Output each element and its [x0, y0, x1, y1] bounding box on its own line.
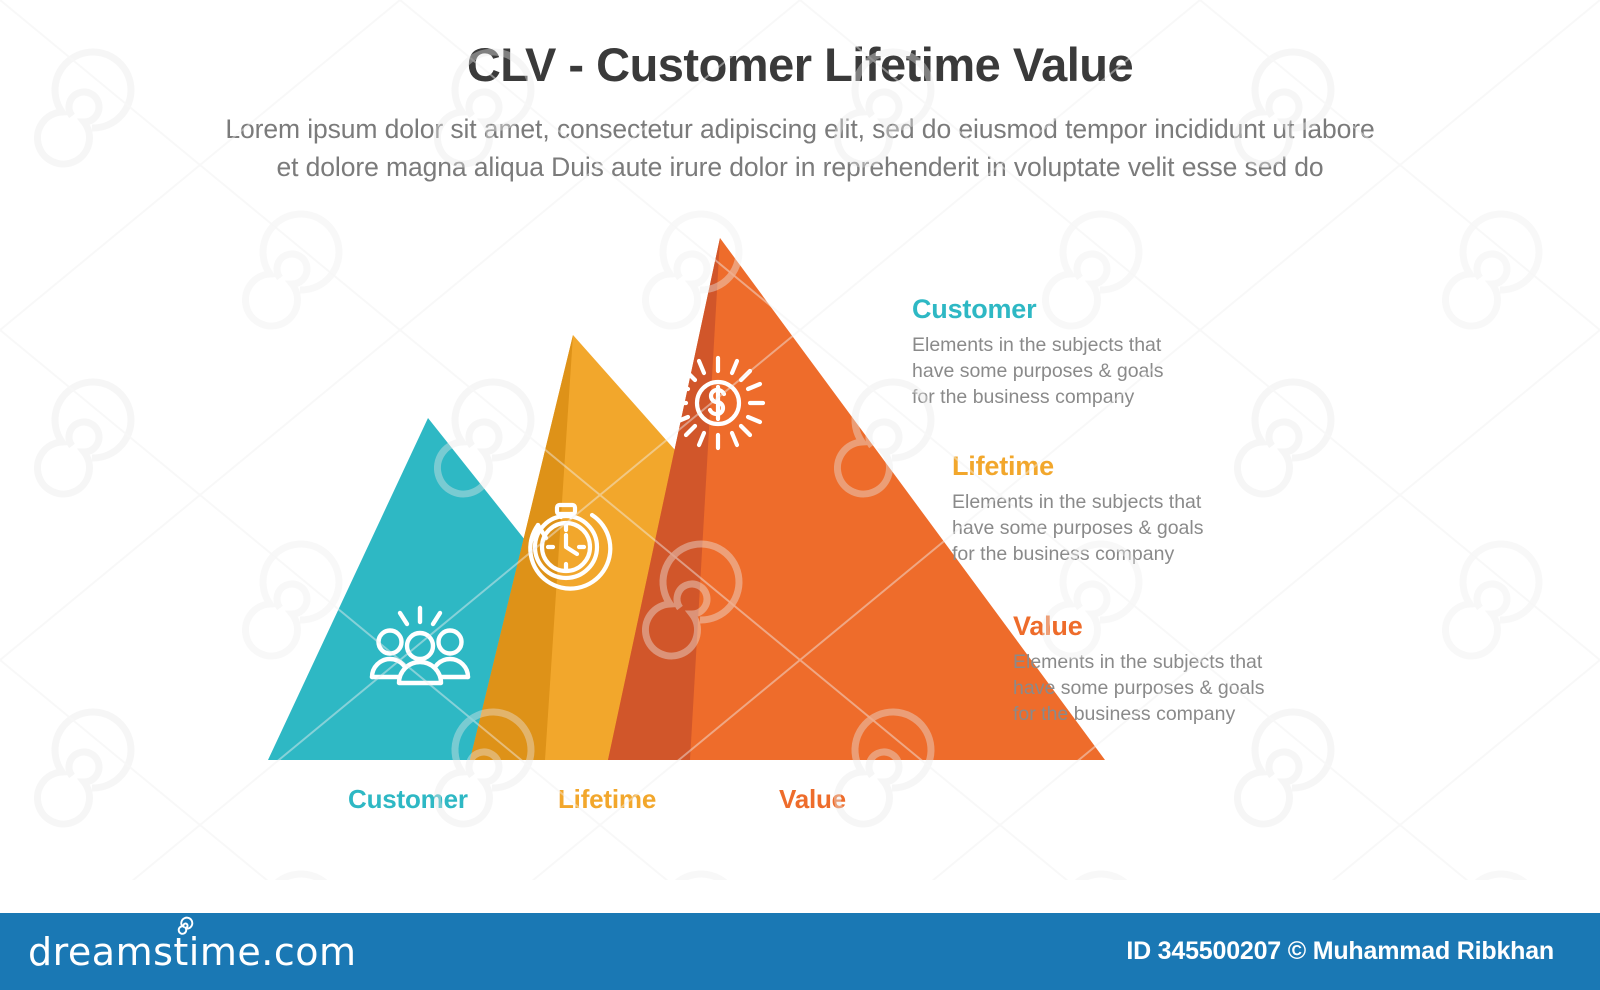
legend-title-value: Value — [1013, 611, 1443, 642]
dreamstime-spiral-icon — [174, 914, 196, 936]
legend-desc-line-3: for the business company — [1013, 702, 1443, 728]
legend-list: Customer Elements in the subjects that h… — [0, 0, 1600, 880]
footer-bar: dreamstime.com ID 345500207 © Muhammad R… — [0, 913, 1600, 990]
legend-desc-line-2: have some purposes & goals — [1013, 676, 1443, 702]
legend-desc-customer: Elements in the subjects that have some … — [912, 333, 1342, 411]
legend-desc-line-2: have some purposes & goals — [952, 516, 1382, 542]
legend-title-customer: Customer — [912, 294, 1342, 325]
image-credit: ID 345500207 © Muhammad Ribkhan — [1126, 937, 1572, 966]
legend-desc-line-2: have some purposes & goals — [912, 359, 1342, 385]
legend-item-value[interactable]: Value Elements in the subjects that have… — [1013, 611, 1443, 728]
legend-item-lifetime[interactable]: Lifetime Elements in the subjects that h… — [952, 451, 1382, 568]
legend-desc-line-1: Elements in the subjects that — [1013, 650, 1443, 676]
infographic-page: CLV - Customer Lifetime Value Lorem ipsu… — [0, 0, 1600, 990]
dreamstime-logo-text: dreamstime.com — [28, 930, 356, 974]
legend-desc-line-1: Elements in the subjects that — [912, 333, 1342, 359]
legend-desc-line-3: for the business company — [952, 542, 1382, 568]
legend-item-customer[interactable]: Customer Elements in the subjects that h… — [912, 294, 1342, 411]
legend-desc-line-1: Elements in the subjects that — [952, 490, 1382, 516]
legend-title-lifetime: Lifetime — [952, 451, 1382, 482]
dreamstime-logo[interactable]: dreamstime.com — [28, 930, 356, 974]
legend-desc-line-3: for the business company — [912, 385, 1342, 411]
legend-desc-lifetime: Elements in the subjects that have some … — [952, 490, 1382, 568]
legend-desc-value: Elements in the subjects that have some … — [1013, 650, 1443, 728]
